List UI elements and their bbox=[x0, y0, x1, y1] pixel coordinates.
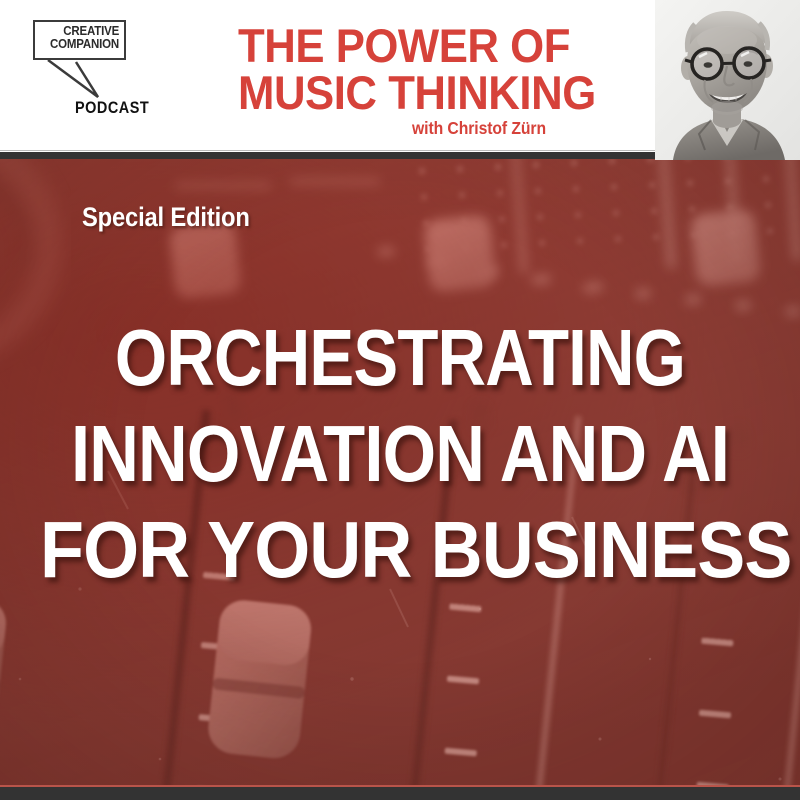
bubble-line-2: COMPANION bbox=[50, 38, 119, 51]
podcast-cover-art: 1 2 3 4 bbox=[0, 0, 800, 800]
show-title-line-2: MUSIC THINKING bbox=[238, 69, 638, 116]
episode-headline: ORCHESTRATING INNOVATION AND AI FOR YOUR… bbox=[0, 318, 800, 590]
headline-line-3: FOR YOUR BUSINESS bbox=[40, 510, 760, 590]
bubble-text: CREATIVE COMPANION bbox=[50, 25, 119, 51]
podcast-label: PODCAST bbox=[75, 98, 149, 118]
host-portrait bbox=[655, 0, 800, 160]
creative-companion-logo[interactable]: CREATIVE COMPANION PODCAST bbox=[28, 16, 188, 136]
special-edition-badge: Special Edition bbox=[82, 202, 250, 233]
fader-cap-2 bbox=[206, 598, 314, 761]
footer-dark-bar bbox=[0, 787, 800, 800]
show-title: THE POWER OF MUSIC THINKING bbox=[238, 22, 668, 116]
speech-bubble-icon: CREATIVE COMPANION bbox=[33, 20, 126, 60]
host-byline: with Christof Zürn bbox=[330, 118, 546, 139]
host-portrait-image bbox=[655, 0, 800, 160]
headline-line-2: INNOVATION AND AI bbox=[56, 414, 744, 494]
show-title-line-1: THE POWER OF bbox=[238, 22, 638, 69]
speech-bubble-tail-icon bbox=[46, 59, 106, 99]
headline-line-1: ORCHESTRATING bbox=[64, 318, 736, 398]
